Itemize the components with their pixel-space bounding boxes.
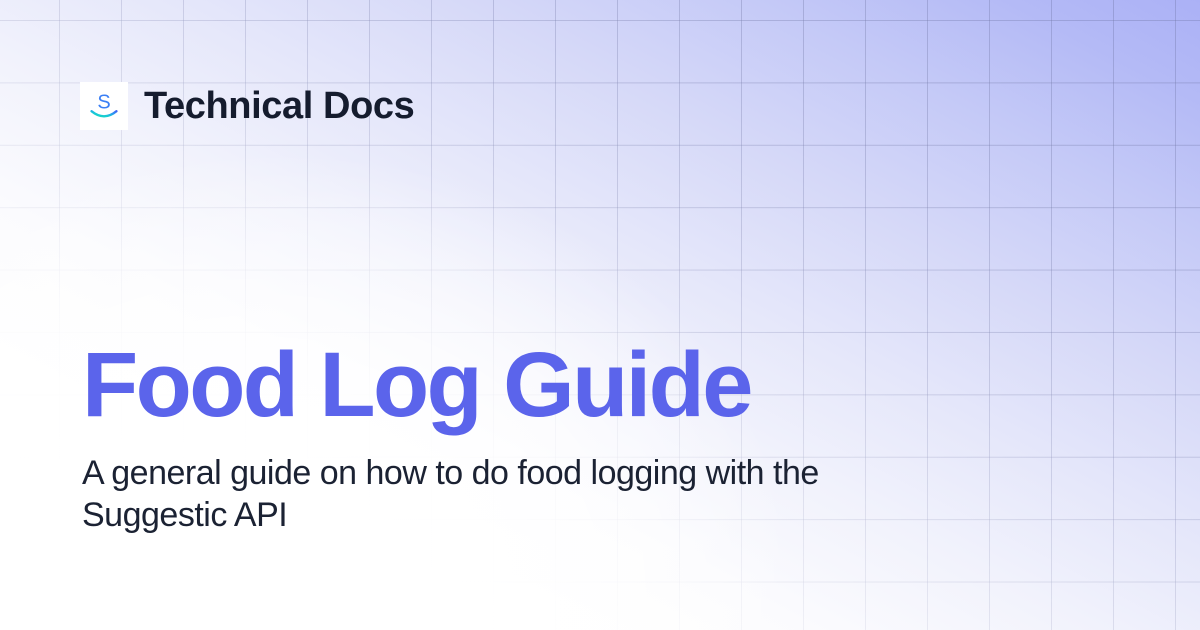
logo-tile: S xyxy=(80,82,128,130)
og-banner: S Technical Docs Food Log Guide A genera… xyxy=(0,0,1200,630)
hero-text-block: Food Log Guide A general guide on how to… xyxy=(82,340,902,536)
brand-row: S Technical Docs xyxy=(80,82,414,130)
svg-text:S: S xyxy=(97,92,110,114)
suggestic-s-smile-logo-icon: S xyxy=(84,86,124,126)
brand-name: Technical Docs xyxy=(144,87,414,125)
page-subtitle: A general guide on how to do food loggin… xyxy=(82,430,842,536)
page-title: Food Log Guide xyxy=(82,340,902,430)
